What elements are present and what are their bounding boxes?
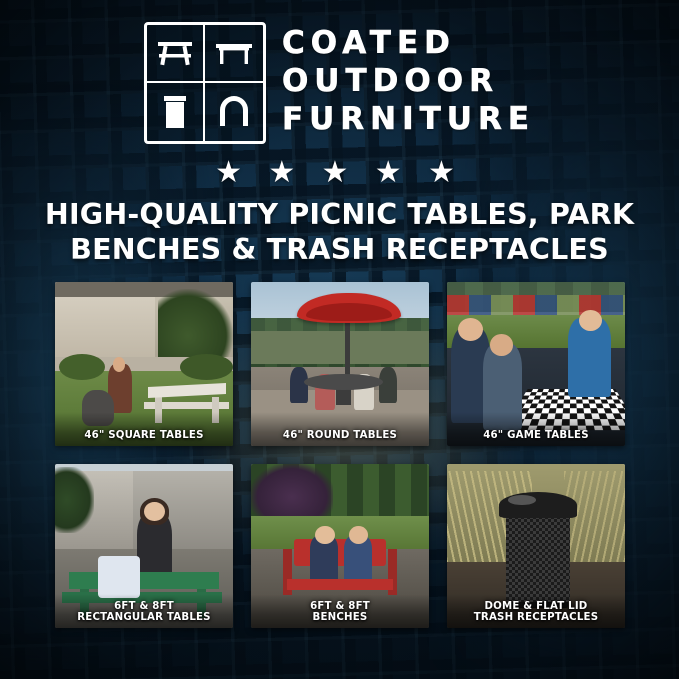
logo-icon-grid [144, 22, 266, 144]
brand-word-1: COATED [282, 26, 535, 62]
product-tile-rectangular-tables[interactable]: 6FT & 8FT RECTANGULAR TABLES [55, 464, 233, 628]
product-grid: 46" SQUARE TABLES [55, 282, 625, 628]
trash-receptacle-icon [147, 83, 205, 141]
headline: HIGH-QUALITY PICNIC TABLES, PARK BENCHES… [30, 198, 649, 268]
product-caption-line-2: BENCHES [313, 612, 368, 623]
product-caption: 6FT & 8FT RECTANGULAR TABLES [55, 598, 233, 628]
park-bench-icon [205, 25, 263, 83]
arch-bench-icon [205, 83, 263, 141]
content-layer: COATED OUTDOOR FURNITURE ★ ★ ★ ★ ★ HIGH-… [0, 0, 679, 679]
product-caption: 46" GAME TABLES [447, 427, 625, 446]
product-caption: DOME & FLAT LID TRASH RECEPTACLES [447, 598, 625, 628]
product-caption: 46" ROUND TABLES [251, 427, 429, 446]
product-tile-benches[interactable]: 6FT & 8FT BENCHES [251, 464, 429, 628]
product-caption-line-2: RECTANGULAR TABLES [77, 612, 210, 623]
product-caption-line-1: 6FT & 8FT [310, 601, 370, 612]
product-tile-game-tables[interactable]: 46" GAME TABLES [447, 282, 625, 446]
brand-word-3: FURNITURE [282, 102, 535, 138]
picnic-table-icon [147, 25, 205, 83]
product-caption: 6FT & 8FT BENCHES [251, 598, 429, 628]
product-caption: 46" SQUARE TABLES [55, 427, 233, 446]
brand-word-2: OUTDOOR [282, 64, 535, 100]
product-tile-trash-receptacles[interactable]: DOME & FLAT LID TRASH RECEPTACLES [447, 464, 625, 628]
product-caption-line-1: 6FT & 8FT [114, 601, 174, 612]
product-caption-line-1: DOME & FLAT LID [485, 601, 588, 612]
product-tile-square-tables[interactable]: 46" SQUARE TABLES [55, 282, 233, 446]
brand-wordmark: COATED OUTDOOR FURNITURE [282, 22, 535, 138]
star-rating: ★ ★ ★ ★ ★ [0, 158, 679, 188]
promo-image: COATED OUTDOOR FURNITURE ★ ★ ★ ★ ★ HIGH-… [0, 0, 679, 679]
brand-logo: COATED OUTDOOR FURNITURE [0, 22, 679, 144]
headline-line-1: HIGH-QUALITY PICNIC TABLES, PARK [30, 198, 649, 233]
product-caption-line-2: TRASH RECEPTACLES [474, 612, 599, 623]
headline-line-2: BENCHES & TRASH RECEPTACLES [30, 233, 649, 268]
product-tile-round-tables[interactable]: 46" ROUND TABLES [251, 282, 429, 446]
